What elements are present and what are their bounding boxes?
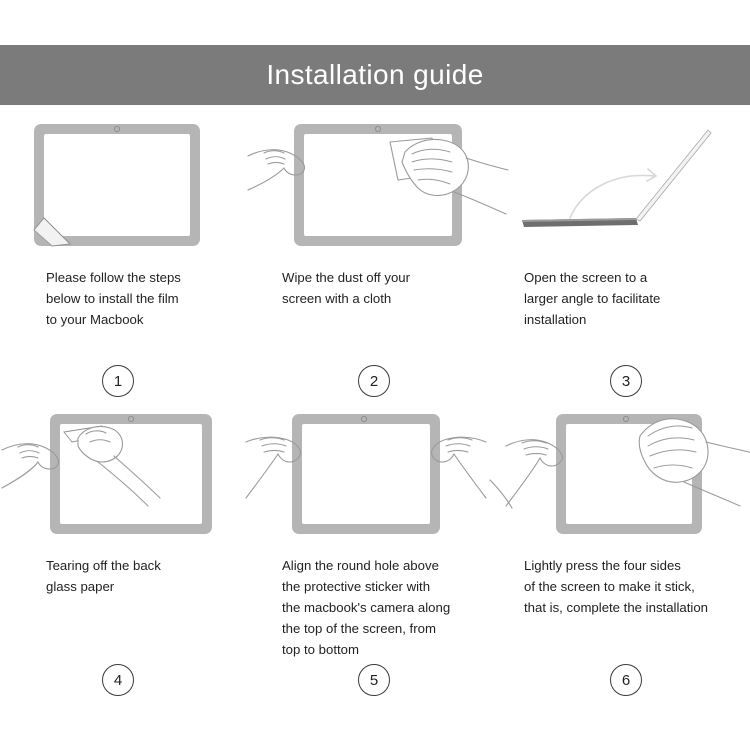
step-4-description: Tearing off the back glass paper [12,555,238,597]
step-6-description: Lightly press the four sides of the scre… [512,555,738,618]
step-4-illustration [12,406,238,541]
step-2-description: Wipe the dust off your screen with a clo… [262,267,488,309]
step-card-4: Tearing off the back glass paper 4 [0,406,250,706]
step-number-badge-4: 4 [102,664,134,696]
step-1-description: Please follow the steps below to install… [12,267,238,330]
step-card-1: Please follow the steps below to install… [0,118,250,406]
header-banner: Installation guide [0,45,750,105]
step-3-description: Open the screen to a larger angle to fac… [512,267,738,330]
step-card-5: Align the round hole above the protectiv… [250,406,500,706]
step-3-illustration [512,118,738,253]
step-number-badge-2: 2 [358,365,390,397]
step-number-badge-5: 5 [358,664,390,696]
step-1-illustration [12,118,238,253]
step-card-2: Wipe the dust off your screen with a clo… [250,118,500,406]
installation-steps-grid: Please follow the steps below to install… [0,118,750,706]
step-card-3: Open the screen to a larger angle to fac… [500,118,750,406]
step-5-description: Align the round hole above the protectiv… [262,555,488,660]
step-number-badge-1: 1 [102,365,134,397]
step-number-badge-6: 6 [610,664,642,696]
step-number-badge-3: 3 [610,365,642,397]
page-title: Installation guide [266,61,483,89]
screen-surface [44,134,190,236]
left-hand-outline [506,440,562,506]
screen-surface [302,424,430,524]
laptop-base [522,218,638,227]
step-2-illustration [262,118,488,253]
step-6-illustration [512,406,738,541]
step-5-illustration [262,406,488,541]
step-card-6: Lightly press the four sides of the scre… [500,406,750,706]
